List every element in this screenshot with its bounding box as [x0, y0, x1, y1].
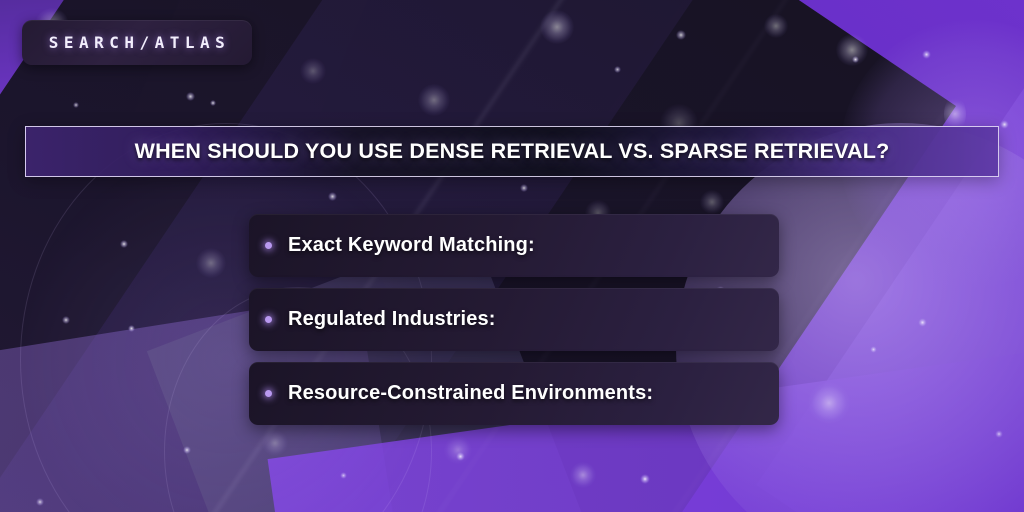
background-bokeh-dot — [300, 58, 326, 84]
background-bokeh-dot — [73, 102, 79, 108]
bullet-list: Exact Keyword Matching: Regulated Indust… — [249, 214, 779, 436]
background-bokeh-dot — [918, 318, 927, 327]
background-bokeh-dot — [328, 192, 337, 201]
list-item[interactable]: Exact Keyword Matching: — [249, 214, 779, 277]
logo-wordmark: SEARCH/ATLAS — [44, 33, 231, 52]
background-bokeh-dot — [922, 50, 931, 59]
bullet-dot-icon — [265, 390, 272, 397]
background-bokeh-dot — [183, 446, 191, 454]
background-bokeh-dot — [570, 462, 596, 488]
bullet-dot-icon — [265, 316, 272, 323]
background-bokeh-dot — [418, 84, 450, 116]
background-bokeh-dot — [62, 316, 70, 324]
list-item-label: Exact Keyword Matching: — [288, 234, 535, 257]
page-title: WHEN SHOULD YOU USE DENSE RETRIEVAL VS. … — [135, 139, 890, 164]
list-item-label: Regulated Industries: — [288, 308, 496, 331]
background-bokeh-dot — [36, 498, 44, 506]
background-bokeh-dot — [340, 472, 347, 479]
background-bokeh-dot — [120, 240, 128, 248]
background-bokeh-dot — [808, 382, 850, 424]
search-atlas-logo[interactable]: SEARCH/ATLAS — [22, 20, 252, 65]
background-bokeh-dot — [852, 56, 859, 63]
background-bokeh-dot — [676, 30, 686, 40]
background-bokeh-dot — [870, 346, 877, 353]
background-bokeh-dot — [995, 430, 1003, 438]
background-bokeh-dot — [764, 14, 788, 38]
list-item-label: Resource-Constrained Environments: — [288, 382, 653, 405]
list-item[interactable]: Resource-Constrained Environments: — [249, 362, 779, 425]
background-bokeh-dot — [540, 10, 574, 44]
slide-canvas: SEARCH/ATLAS WHEN SHOULD YOU USE DENSE R… — [0, 0, 1024, 512]
list-item[interactable]: Regulated Industries: — [249, 288, 779, 351]
bullet-dot-icon — [265, 242, 272, 249]
background-bokeh-dot — [196, 248, 226, 278]
background-bokeh-dot — [614, 66, 621, 73]
slide-title-bar: WHEN SHOULD YOU USE DENSE RETRIEVAL VS. … — [25, 126, 999, 177]
background-bokeh-dot — [1000, 120, 1009, 129]
background-bokeh-dot — [700, 190, 724, 214]
background-bokeh-dot — [444, 436, 472, 464]
background-bokeh-dot — [186, 92, 195, 101]
background-bokeh-dot — [128, 325, 135, 332]
background-bokeh-dot — [520, 184, 528, 192]
background-bokeh-dot — [640, 474, 650, 484]
background-bokeh-dot — [210, 100, 216, 106]
